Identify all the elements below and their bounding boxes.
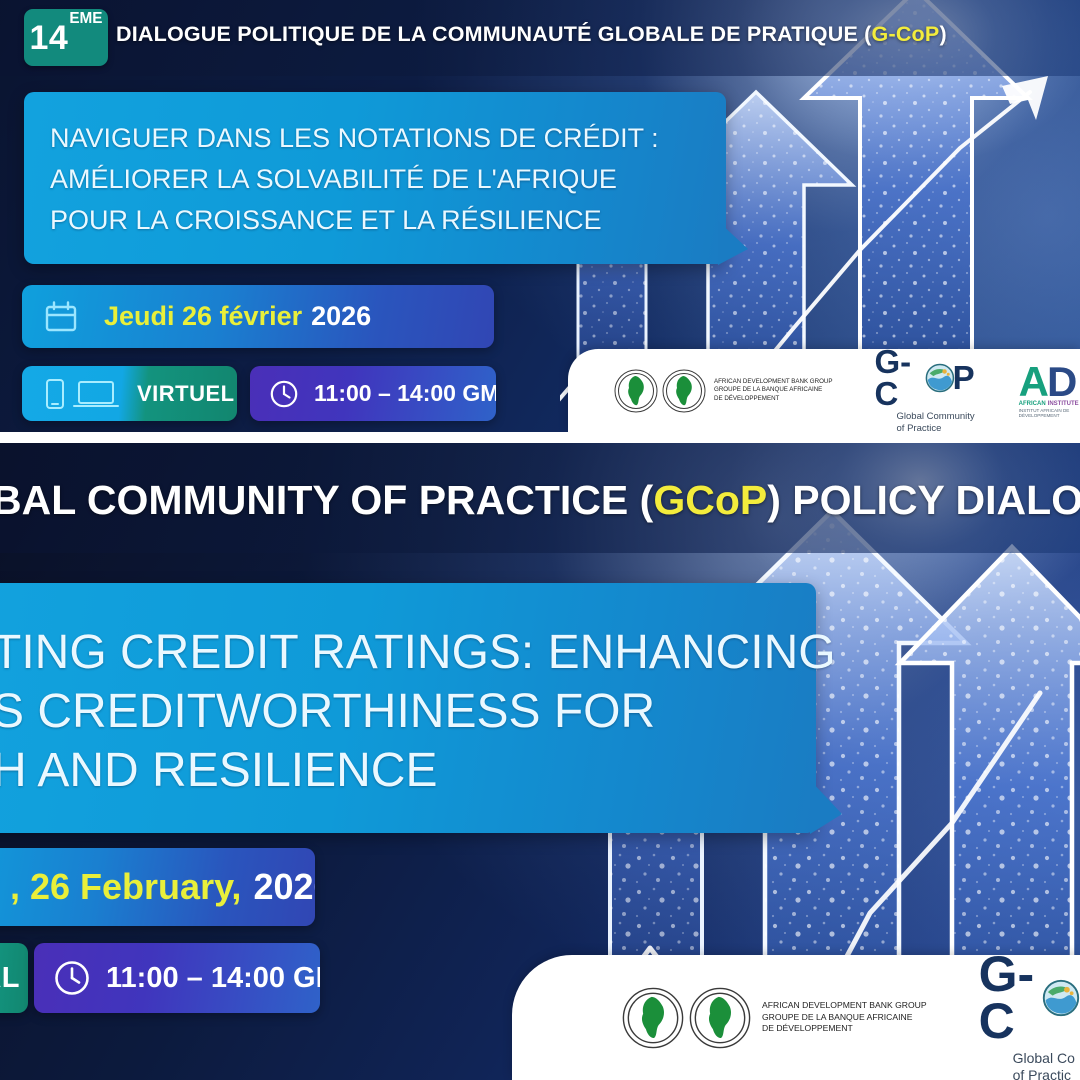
french-time-label: 11:00 – 14:00 GMT — [314, 380, 496, 407]
french-title-text: NAVIGUER DANS LES NOTATIONS DE CRÉDIT : … — [50, 118, 720, 241]
afdb-seal-icon-3 — [622, 987, 684, 1049]
edition-number: 14 — [30, 21, 69, 55]
gcop-logo-2: G-C Global Co of Practic — [979, 951, 1080, 1080]
gcop-suffix: P — [953, 362, 975, 393]
french-date-chip: Jeudi 26 février 2026 — [22, 285, 494, 348]
adi-tagline-fr: INSTITUT AFRICAIN DE DÉVELOPPEMENT — [1019, 408, 1080, 418]
afdb-line-2: GROUPE DE LA BANQUE AFRICAINE — [714, 386, 833, 394]
gcop-prefix: G-C — [875, 346, 931, 409]
afdb-line-1b: AFRICAN DEVELOPMENT BANK GROUP — [762, 1000, 927, 1012]
adi-letter-d: D — [1047, 363, 1077, 401]
english-virtual-chip: AL — [0, 943, 28, 1013]
french-virtual-label: VIRTUEL — [137, 381, 235, 407]
english-date-year: 2026 — [253, 866, 315, 908]
french-date-label: Jeudi 26 février — [104, 301, 302, 332]
english-date-chip: , 26 February, 2026 — [0, 848, 315, 926]
english-poster-panel: BAL COMMUNITY OF PRACTICE (GCoP) POLICY … — [0, 443, 1080, 1080]
french-virtual-chip: VIRTUEL — [22, 366, 237, 421]
edition-suffix: EME — [69, 11, 102, 26]
gcop-globe-icon — [925, 362, 955, 394]
afdb-line-2b: GROUPE DE LA BANQUE AFRICAINE — [762, 1012, 927, 1024]
english-date-label: , 26 February, — [10, 866, 241, 908]
mobile-icon — [44, 377, 66, 411]
french-header-tail: ) — [939, 22, 946, 46]
french-header-main: DIALOGUE POLITIQUE DE LA COMMUNAUTÉ GLOB… — [116, 22, 872, 46]
french-header-highlight: G-CoP — [872, 22, 940, 46]
afdb-line-3b: DE DÉVELOPPEMENT — [762, 1023, 927, 1035]
english-time-label: 11:00 – 14:00 GMT — [106, 962, 320, 995]
english-header-lead: BAL COMMUNITY OF PRACTICE ( — [0, 477, 653, 523]
afdb-line-1: AFRICAN DEVELOPMENT BANK GROUP — [714, 378, 833, 386]
english-header-title: BAL COMMUNITY OF PRACTICE (GCoP) POLICY … — [0, 477, 1080, 524]
french-poster-panel: 14 EME DIALOGUE POLITIQUE DE LA COMMUNAU… — [0, 0, 1080, 432]
afdb-seal-icon — [614, 369, 658, 413]
afdb-logo: AFRICAN DEVELOPMENT BANK GROUP GROUPE DE… — [614, 369, 833, 413]
afdb-seal-icon-4 — [689, 987, 751, 1049]
gcop-sub-line-1b: Global Co — [1013, 1050, 1075, 1068]
french-title-line-3: POUR LA CROISSANCE ET LA RÉSILIENCE — [50, 200, 720, 241]
french-title-line-2: AMÉLIORER LA SOLVABILITÉ DE L'AFRIQUE — [50, 159, 720, 200]
english-header-tail: ) POLICY DIALOGUE — [767, 477, 1080, 523]
gcop-prefix-2: G-C — [979, 951, 1051, 1046]
laptop-icon — [73, 377, 119, 411]
afdb-logo-text-2: AFRICAN DEVELOPMENT BANK GROUP GROUPE DE… — [762, 1000, 927, 1035]
english-title-line-3: H AND RESILIENCE — [0, 741, 832, 800]
adi-logo: A D I AFRICAN INSTITUTE INSTITUT AFRICAI… — [1019, 363, 1080, 419]
english-virtual-label: AL — [0, 962, 20, 995]
title-block-tail — [718, 221, 748, 265]
afdb-logo-2: AFRICAN DEVELOPMENT BANK GROUP GROUPE DE… — [622, 987, 927, 1049]
english-logo-bar: AFRICAN DEVELOPMENT BANK GROUP GROUPE DE… — [512, 955, 1080, 1080]
clock-icon-2 — [52, 958, 92, 998]
french-date-year: 2026 — [311, 301, 371, 332]
english-title-text: TING CREDIT RATINGS: ENHANCING S CREDITW… — [0, 623, 832, 800]
panel-seam — [0, 432, 1080, 443]
gcop-sub-line-2: of Practice — [897, 423, 975, 432]
french-time-chip: 11:00 – 14:00 GMT — [250, 366, 496, 421]
gcop-sub-line-2b: of Practic — [1013, 1067, 1075, 1080]
gcop-logo: G-C P Global Community of Practice — [875, 346, 975, 432]
english-title-line-1: TING CREDIT RATINGS: ENHANCING — [0, 623, 832, 682]
adi-tagline: AFRICAN INSTITUTE — [1019, 401, 1080, 407]
edition-badge: 14 EME — [24, 9, 108, 66]
adi-letter-a: A — [1019, 363, 1049, 401]
adi-tag-institute: INSTITUTE — [1048, 401, 1079, 407]
english-title-line-2: S CREDITWORTHINESS FOR — [0, 682, 832, 741]
afdb-seal-icon-2 — [662, 369, 706, 413]
afdb-logo-text: AFRICAN DEVELOPMENT BANK GROUP GROUPE DE… — [714, 378, 833, 403]
adi-tag-african: AFRICAN — [1019, 401, 1046, 407]
gcop-sub-line-1: Global Community — [897, 411, 975, 423]
french-header-title: DIALOGUE POLITIQUE DE LA COMMUNAUTÉ GLOB… — [116, 22, 947, 47]
afdb-line-3: DE DÉVELOPPEMENT — [714, 395, 833, 403]
french-logo-bar: AFRICAN DEVELOPMENT BANK GROUP GROUPE DE… — [568, 349, 1080, 432]
english-header-highlight: GCoP — [653, 477, 767, 523]
french-title-line-1: NAVIGUER DANS LES NOTATIONS DE CRÉDIT : — [50, 118, 720, 159]
clock-icon — [268, 378, 300, 410]
english-time-chip: 11:00 – 14:00 GMT — [34, 943, 320, 1013]
gcop-globe-icon-2 — [1042, 974, 1080, 1022]
calendar-icon — [42, 298, 80, 336]
poster-collage: 14 EME DIALOGUE POLITIQUE DE LA COMMUNAU… — [0, 0, 1080, 1080]
